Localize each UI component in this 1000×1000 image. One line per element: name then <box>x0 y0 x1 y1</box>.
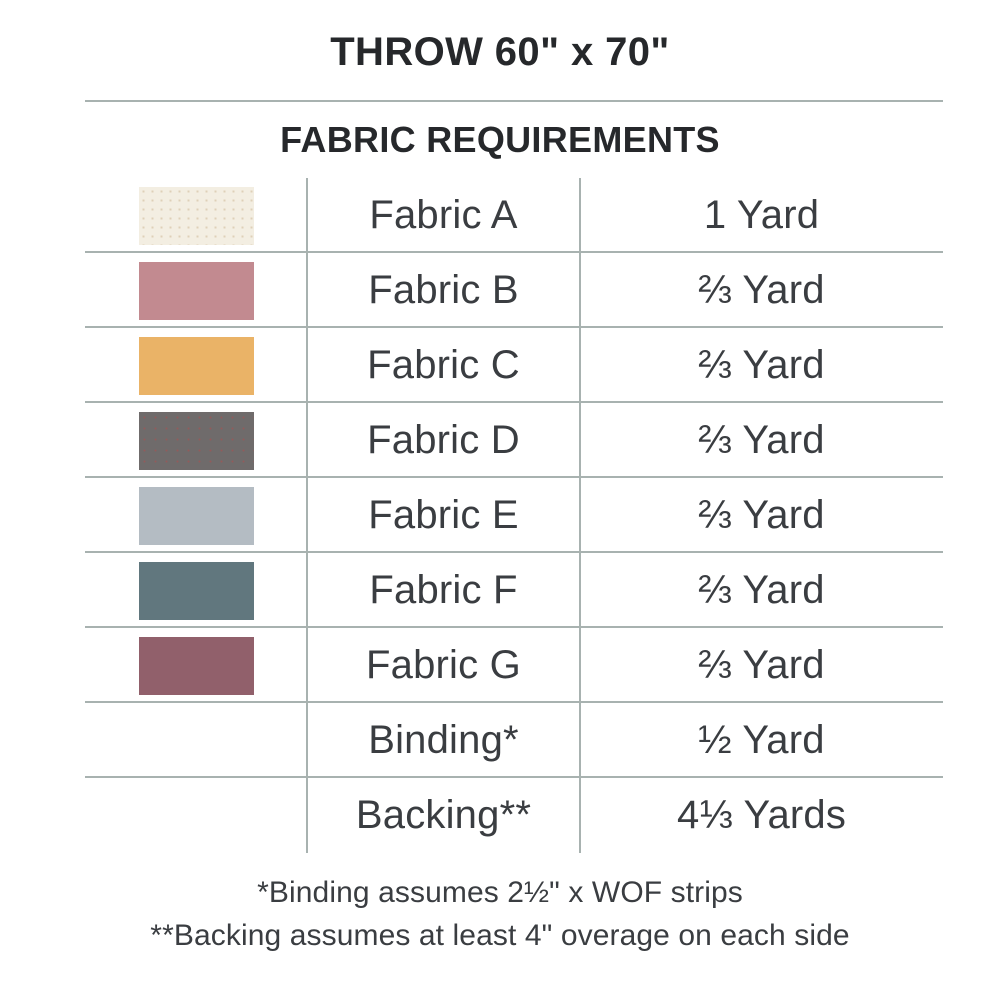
fabric-name: Fabric G <box>307 628 580 703</box>
table-row: Fabric G⅔ Yard <box>85 628 943 703</box>
swatch-cell <box>85 253 307 328</box>
fabric-swatch <box>139 337 254 395</box>
fabric-requirements-table: Fabric A1 YardFabric B⅔ YardFabric C⅔ Ya… <box>85 178 943 853</box>
table-row: Fabric B⅔ Yard <box>85 253 943 328</box>
table-row: Fabric F⅔ Yard <box>85 553 943 628</box>
section-heading: FABRIC REQUIREMENTS <box>0 120 1000 160</box>
page-title: THROW 60" x 70" <box>0 30 1000 74</box>
fabric-amount: ⅔ Yard <box>580 328 943 403</box>
fabric-amount: ⅔ Yard <box>580 553 943 628</box>
footnote-backing: **Backing assumes at least 4" overage on… <box>0 915 1000 958</box>
fabric-amount: ⅔ Yard <box>580 478 943 553</box>
swatch-cell <box>85 703 307 778</box>
swatch-cell <box>85 778 307 853</box>
footnote-binding: *Binding assumes 2½" x WOF strips <box>0 872 1000 915</box>
fabric-name: Fabric F <box>307 553 580 628</box>
table-row: Fabric C⅔ Yard <box>85 328 943 403</box>
table-row: Backing**4⅓ Yards <box>85 778 943 853</box>
fabric-name: Fabric C <box>307 328 580 403</box>
fabric-swatch <box>139 187 254 245</box>
fabric-name: Fabric B <box>307 253 580 328</box>
fabric-name: Backing** <box>307 778 580 853</box>
fabric-amount: ½ Yard <box>580 703 943 778</box>
fabric-name: Binding* <box>307 703 580 778</box>
fabric-swatch <box>139 412 254 470</box>
table-body: Fabric A1 YardFabric B⅔ YardFabric C⅔ Ya… <box>85 178 943 853</box>
swatch-cell <box>85 403 307 478</box>
table-row: Fabric A1 Yard <box>85 178 943 253</box>
fabric-amount: ⅔ Yard <box>580 253 943 328</box>
title-divider <box>85 100 943 102</box>
swatch-cell <box>85 553 307 628</box>
fabric-requirements-page: THROW 60" x 70" FABRIC REQUIREMENTS Fabr… <box>0 0 1000 1000</box>
swatch-cell <box>85 628 307 703</box>
fabric-amount: ⅔ Yard <box>580 628 943 703</box>
fabric-swatch <box>139 637 254 695</box>
table-row: Fabric D⅔ Yard <box>85 403 943 478</box>
fabric-swatch <box>139 262 254 320</box>
footnotes: *Binding assumes 2½" x WOF strips **Back… <box>0 872 1000 957</box>
table-row: Binding*½ Yard <box>85 703 943 778</box>
swatch-cell <box>85 178 307 253</box>
fabric-amount: ⅔ Yard <box>580 403 943 478</box>
fabric-name: Fabric E <box>307 478 580 553</box>
swatch-cell <box>85 478 307 553</box>
fabric-swatch <box>139 487 254 545</box>
fabric-amount: 4⅓ Yards <box>580 778 943 853</box>
fabric-name: Fabric A <box>307 178 580 253</box>
table-row: Fabric E⅔ Yard <box>85 478 943 553</box>
fabric-name: Fabric D <box>307 403 580 478</box>
fabric-amount: 1 Yard <box>580 178 943 253</box>
swatch-cell <box>85 328 307 403</box>
fabric-swatch <box>139 562 254 620</box>
